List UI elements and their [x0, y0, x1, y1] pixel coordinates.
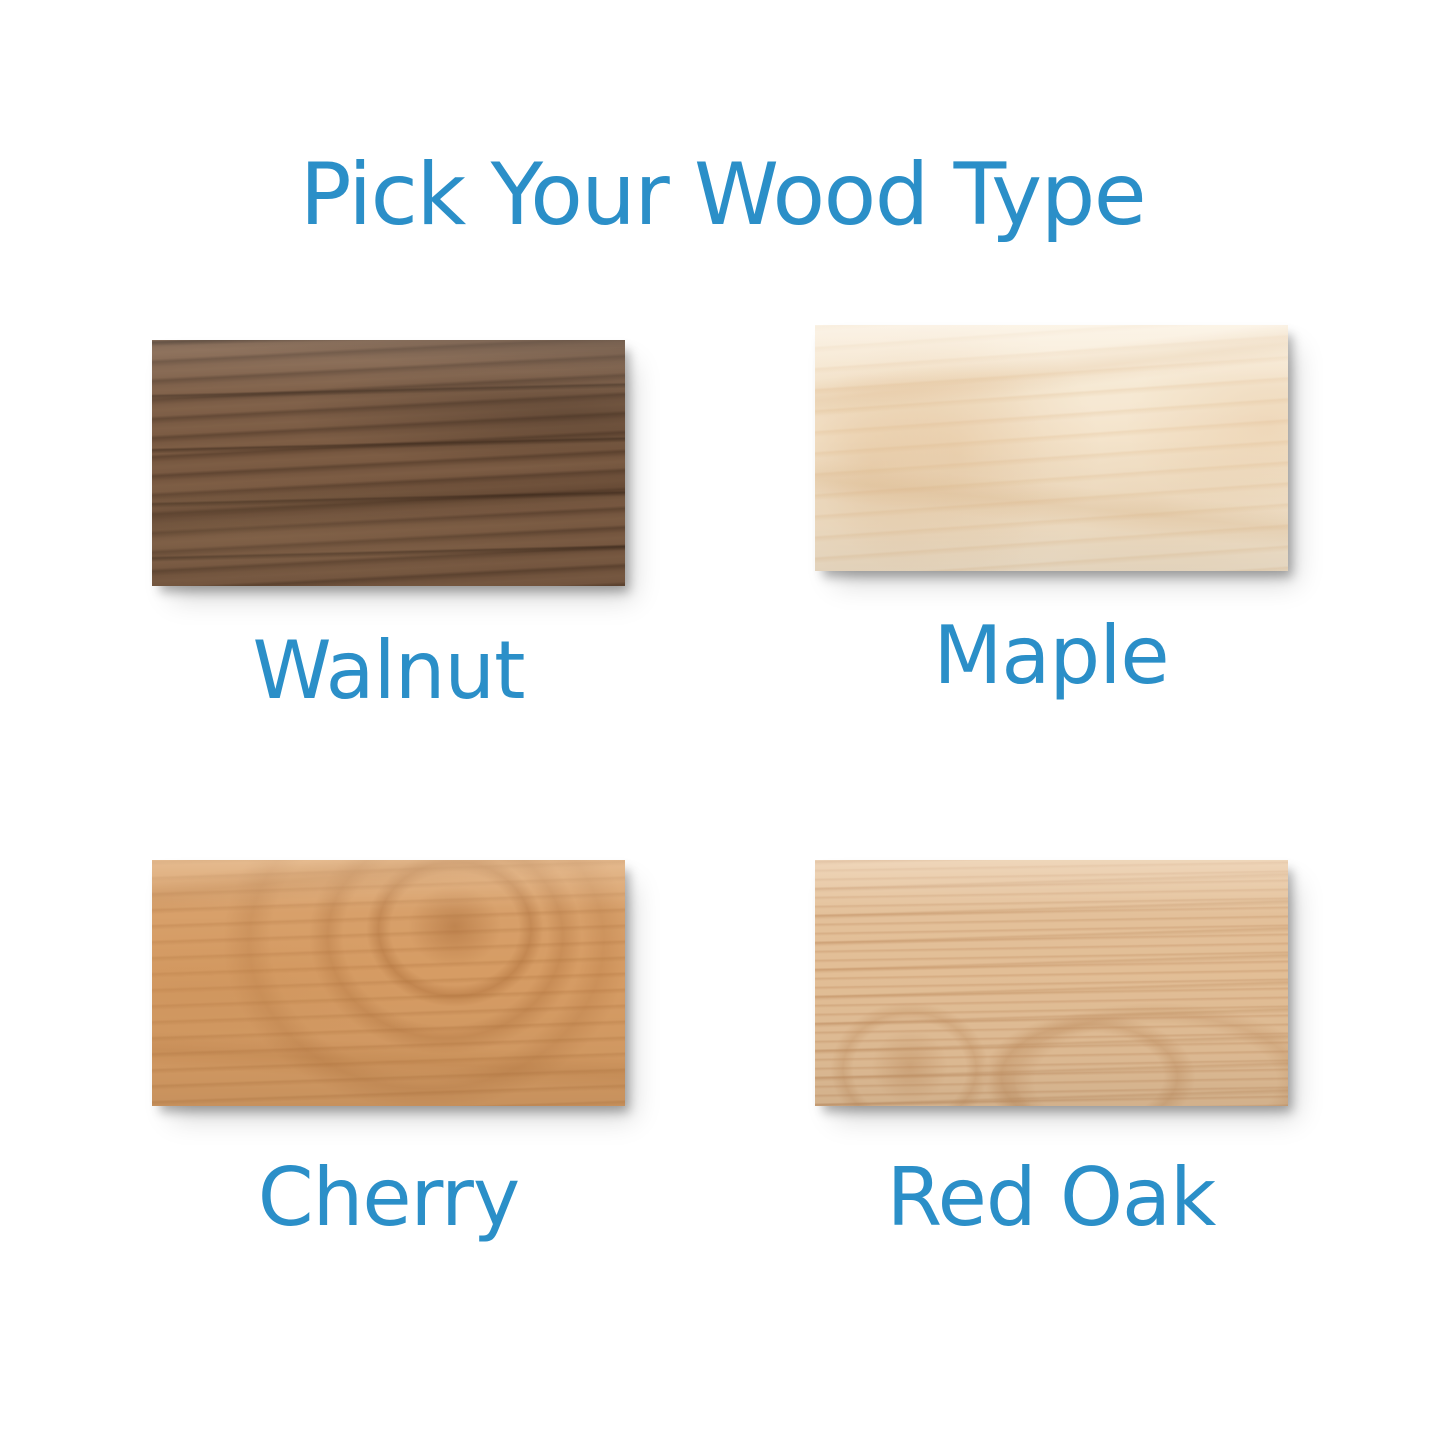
wood-swatch-grid: Walnut Maple Cherry: [0, 325, 1445, 1370]
wood-grain-layer-figure: [815, 860, 1288, 1106]
wood-grain-layer-figure: [152, 860, 625, 1106]
wood-type-picker-page: Pick Your Wood Type Walnut Maple: [0, 0, 1445, 1445]
wood-option-label-red-oak: Red Oak: [815, 1158, 1288, 1238]
wood-option-maple[interactable]: Maple: [723, 325, 1445, 835]
wood-grain-layer-figure: [152, 340, 625, 586]
wood-option-cherry[interactable]: Cherry: [0, 860, 723, 1370]
page-title: Pick Your Wood Type: [0, 152, 1445, 238]
wood-option-red-oak[interactable]: Red Oak: [723, 860, 1445, 1370]
wood-option-label-maple: Maple: [815, 616, 1288, 696]
wood-swatch-maple[interactable]: [815, 325, 1288, 571]
wood-option-walnut[interactable]: Walnut: [0, 325, 723, 850]
wood-option-label-walnut: Walnut: [152, 631, 625, 711]
wood-swatch-cherry[interactable]: [152, 860, 625, 1106]
wood-swatch-red-oak[interactable]: [815, 860, 1288, 1106]
wood-swatch-walnut[interactable]: [152, 340, 625, 586]
wood-grain-layer-figure: [815, 325, 1288, 571]
wood-option-label-cherry: Cherry: [152, 1158, 625, 1238]
